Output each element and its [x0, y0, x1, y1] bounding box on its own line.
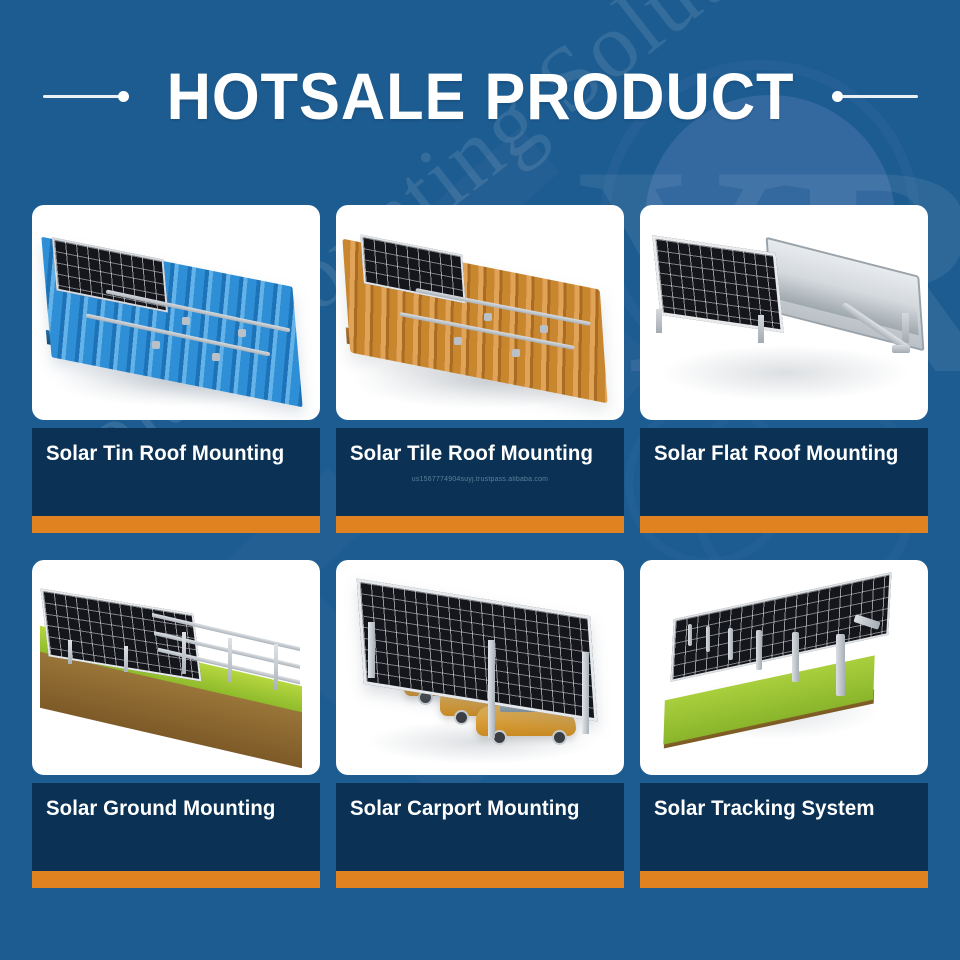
page-title: HOTSALE PRODUCT [166, 63, 794, 129]
product-label-band: Solar Flat Roof Mounting [640, 428, 928, 516]
product-image-solar-tracking-system [640, 560, 928, 775]
product-card[interactable]: Solar Ground Mounting [32, 560, 320, 905]
product-card[interactable]: Solar Carport Mounting [336, 560, 624, 905]
product-title: Solar Tin Roof Mounting [46, 442, 312, 466]
product-label-band: Solar Tin Roof Mounting [32, 428, 320, 516]
product-title: Solar Tracking System [654, 797, 920, 821]
product-card[interactable]: Solar Tile Roof Mounting us1567774904suy… [336, 205, 624, 550]
header-rule-right [832, 91, 918, 102]
product-grid: Solar Tin Roof Mounting [32, 205, 928, 905]
product-card[interactable]: Solar Tin Roof Mounting [32, 205, 320, 550]
product-card[interactable]: Solar Tracking System [640, 560, 928, 905]
product-image-solar-tile-roof [336, 205, 624, 420]
header-line-left [43, 95, 119, 98]
product-accent-bar [336, 871, 624, 888]
page-header: HOTSALE PRODUCT [0, 56, 960, 136]
header-dot-right [832, 91, 843, 102]
product-image-solar-carport [336, 560, 624, 775]
product-accent-bar [32, 516, 320, 533]
product-label-band: Solar Tile Roof Mounting us1567774904suy… [336, 428, 624, 516]
product-title: Solar Ground Mounting [46, 797, 312, 821]
product-title: Solar Tile Roof Mounting [350, 442, 616, 466]
product-accent-bar [32, 871, 320, 888]
product-watermark-url: us1567774904suyj.trustpass.alibaba.com [336, 476, 624, 483]
header-rule-left [43, 91, 129, 102]
product-image-solar-flat-roof [640, 205, 928, 420]
product-image-solar-ground-mount [32, 560, 320, 775]
header-dot-left [118, 91, 129, 102]
product-accent-bar [640, 871, 928, 888]
product-title: Solar Flat Roof Mounting [654, 442, 920, 466]
product-accent-bar [640, 516, 928, 533]
product-label-band: Solar Ground Mounting [32, 783, 320, 871]
product-title: Solar Carport Mounting [350, 797, 616, 821]
header-line-right [842, 95, 918, 98]
product-card[interactable]: Solar Flat Roof Mounting [640, 205, 928, 550]
product-label-band: Solar Tracking System [640, 783, 928, 871]
product-accent-bar [336, 516, 624, 533]
product-image-solar-tin-roof [32, 205, 320, 420]
product-showcase-page: YRN Solar Mounting Solutions HOTSALE PRO… [0, 0, 960, 960]
product-label-band: Solar Carport Mounting [336, 783, 624, 871]
